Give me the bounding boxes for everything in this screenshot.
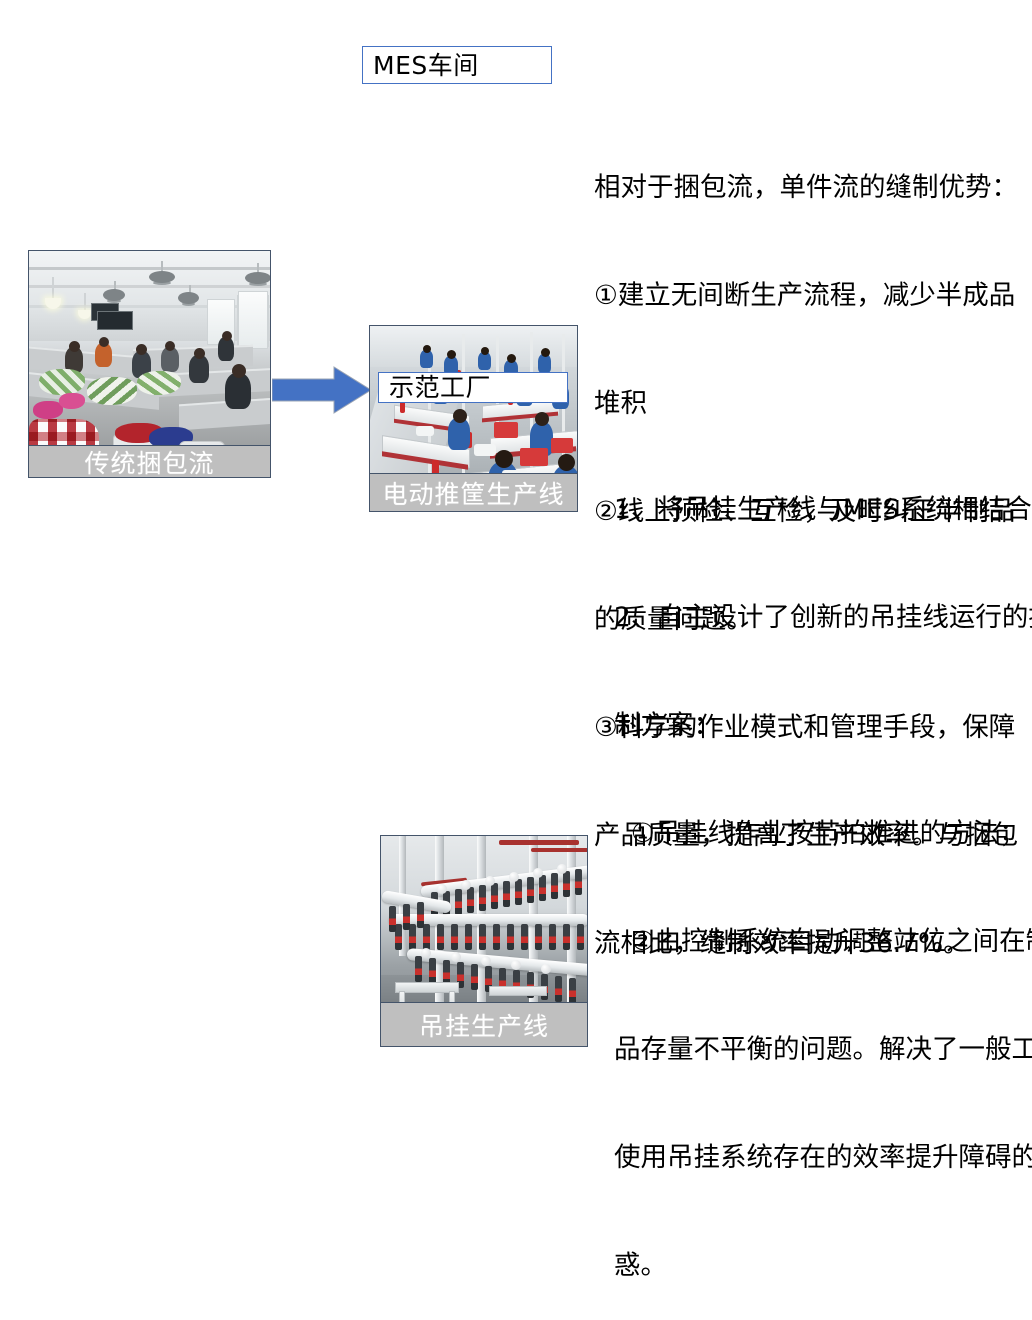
flow-arrow [272, 366, 372, 414]
mes-workshop-label-text: MES车间 [373, 53, 479, 78]
traditional-bundle-flow-photo-frame: 传统捆包流 [28, 250, 271, 478]
demo-factory-label-text: 示范工厂 [389, 375, 491, 400]
text-line: 堆积 [594, 386, 1014, 422]
text-line: ①建立无间断生产流程，减少半成品 [594, 278, 1014, 314]
text-line: 惑。 [614, 1248, 1032, 1284]
hanging-line-caption: 吊挂生产线 [381, 1002, 587, 1046]
flow-arrow-icon [272, 366, 372, 414]
text-line: 相对于捆包流，单件流的缝制优势： [594, 170, 1014, 206]
text-line: 制方案： [614, 708, 1032, 744]
hanging-line-photo-frame: 吊挂生产线 [380, 835, 588, 1047]
demo-factory-label-box: 示范工厂 [378, 372, 568, 403]
text-line: ①吊挂线作业按节拍推进的方法； [614, 816, 1032, 852]
electric-basket-line-caption: 电动推筐生产线 [370, 473, 577, 511]
demo-factory-text: 1、将吊挂生产线与MES系统相结合 2、自主设计了创新的吊挂线运行的控 制方案：… [614, 420, 1032, 1320]
traditional-bundle-flow-caption: 传统捆包流 [29, 445, 270, 477]
text-line: ②由控制系统自动调整站位之间在制 [614, 924, 1032, 960]
text-line: 1、将吊挂生产线与MES系统相结合 [614, 492, 1032, 528]
caption-text: 传统捆包流 [84, 444, 214, 479]
mes-workshop-label-box: MES车间 [362, 46, 552, 84]
text-line: 品存量不平衡的问题。解决了一般工厂 [614, 1032, 1032, 1068]
text-line: 2、自主设计了创新的吊挂线运行的控 [614, 600, 1032, 636]
caption-text: 吊挂生产线 [419, 1007, 549, 1043]
caption-text: 电动推筐生产线 [382, 475, 564, 511]
electric-basket-line-photo-frame: 电动推筐生产线 [369, 325, 578, 512]
text-line: 使用吊挂系统存在的效率提升障碍的困 [614, 1140, 1032, 1176]
